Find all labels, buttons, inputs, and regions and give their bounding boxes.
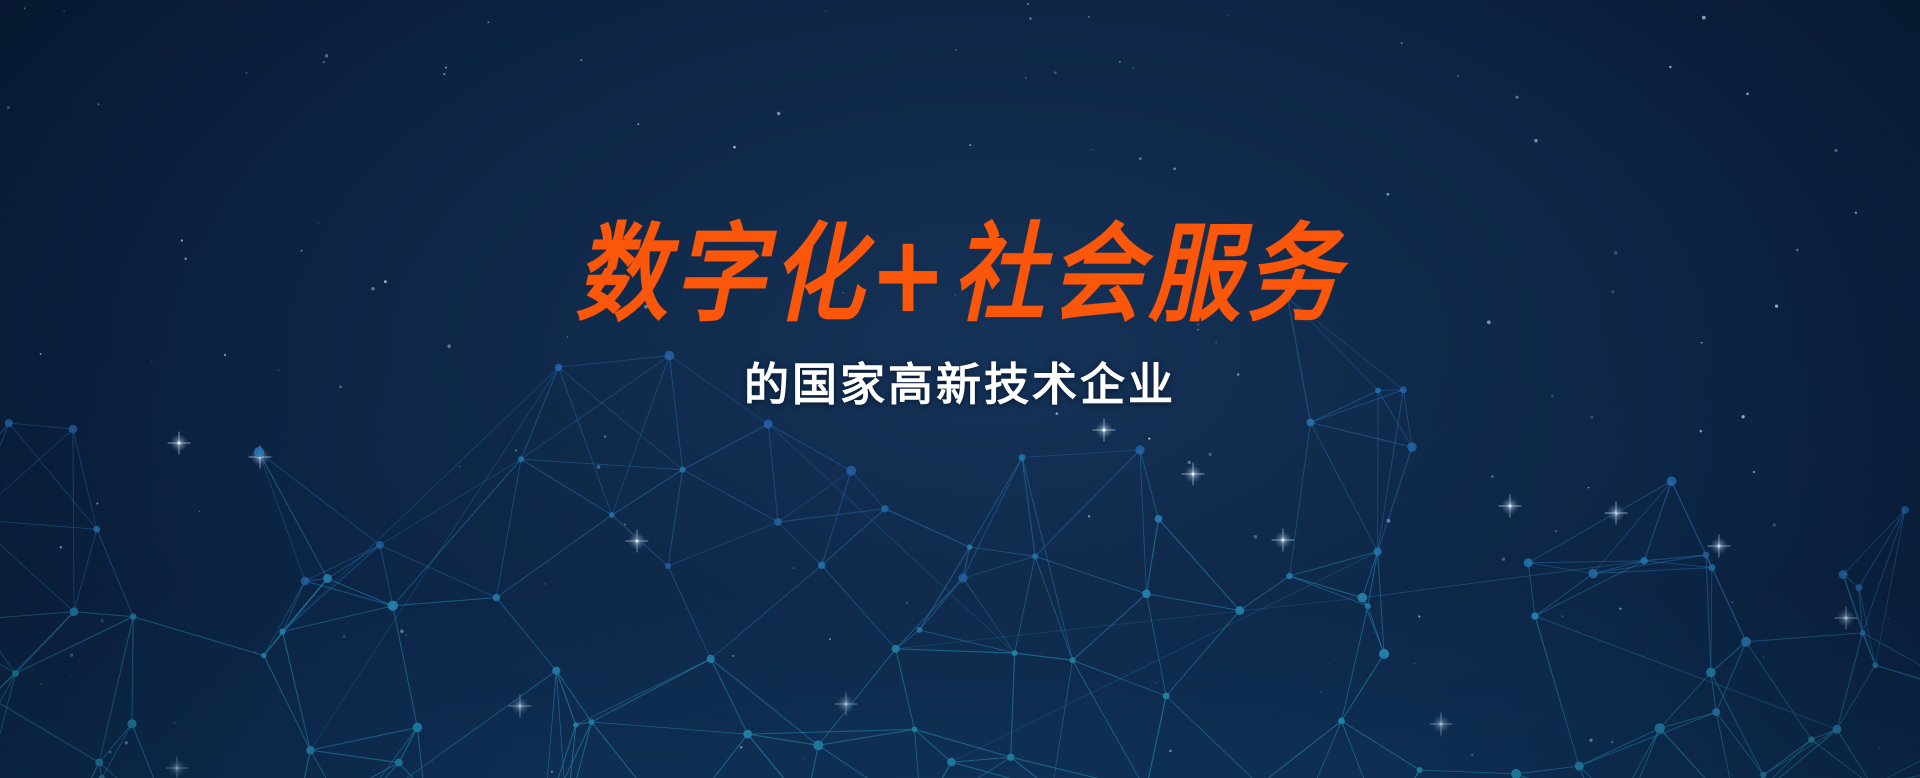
banner-headline: 数字化+社会服务 bbox=[0, 220, 1920, 329]
banner-text-block: 数字化+社会服务 的国家高新技术企业 bbox=[0, 228, 1920, 409]
banner-subtitle: 的国家高新技术企业 bbox=[0, 360, 1920, 410]
banner-stage: 数字化+社会服务 的国家高新技术企业 bbox=[0, 0, 1920, 778]
